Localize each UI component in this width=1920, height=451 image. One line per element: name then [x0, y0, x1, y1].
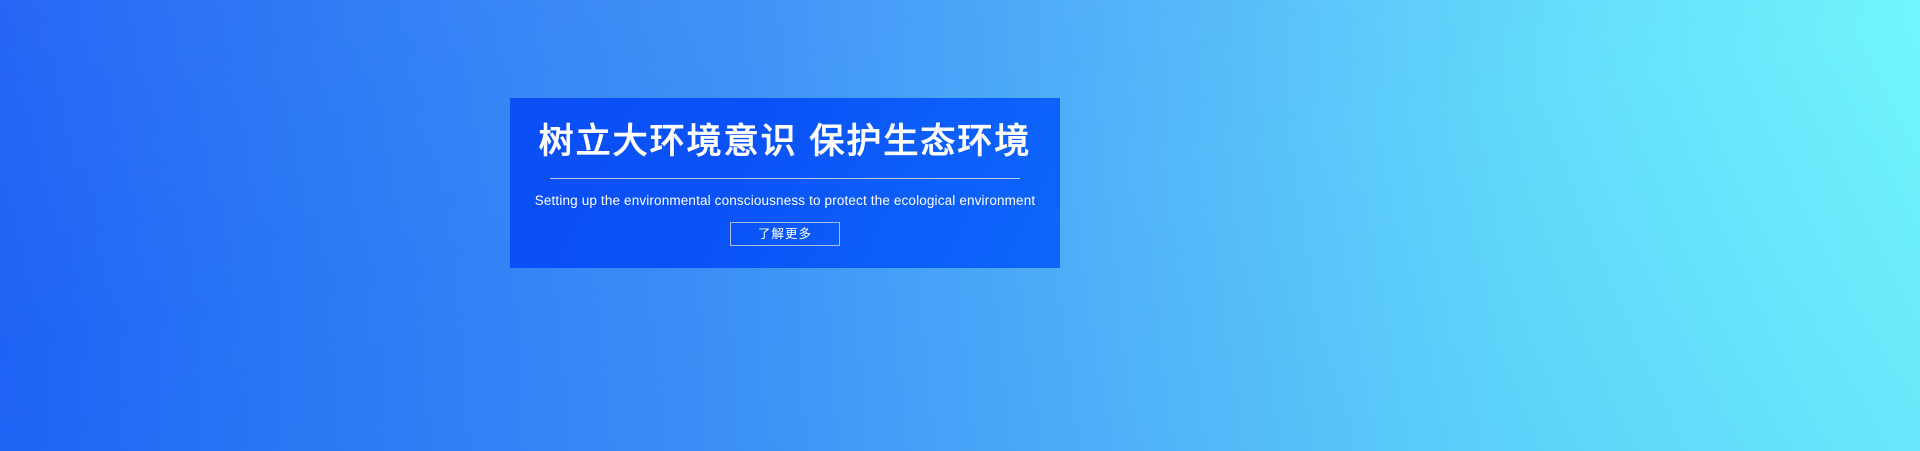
hero-banner: 树立大环境意识 保护生态环境 Setting up the environmen… [0, 0, 1920, 451]
learn-more-button[interactable]: 了解更多 [730, 222, 840, 246]
hero-panel: 树立大环境意识 保护生态环境 Setting up the environmen… [510, 98, 1060, 268]
hero-title: 树立大环境意识 保护生态环境 [539, 124, 1032, 161]
hero-subtitle: Setting up the environmental consciousne… [535, 179, 1036, 208]
